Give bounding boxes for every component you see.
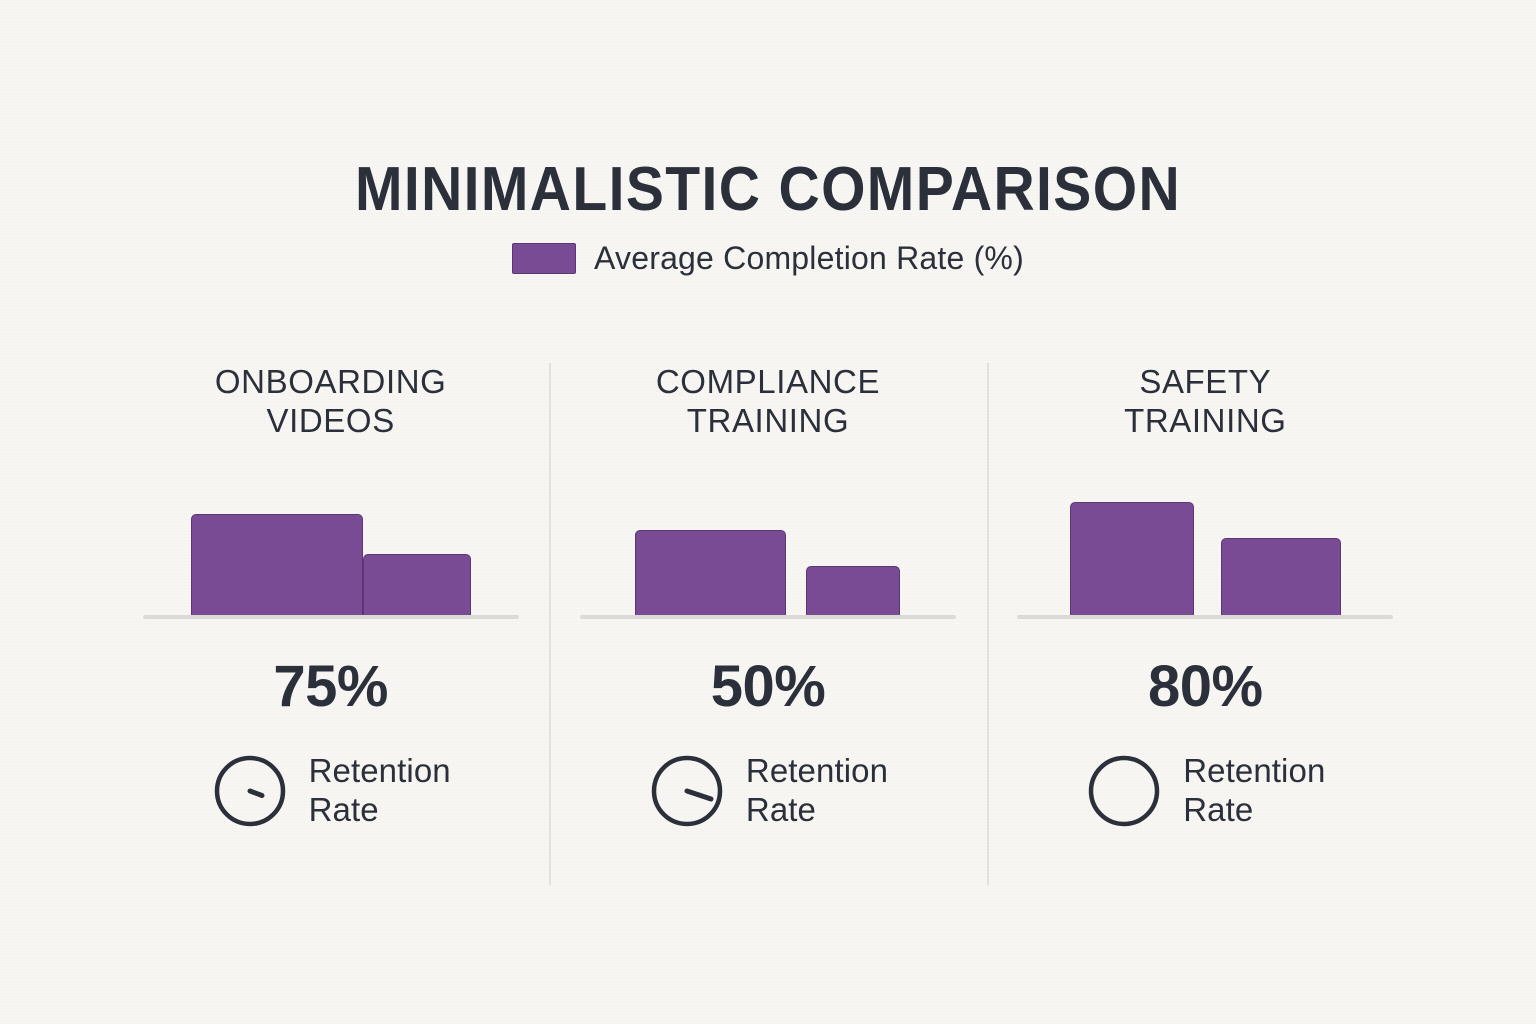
bar-retention-rate	[806, 566, 900, 616]
retention-label: Retention Rate	[1183, 752, 1325, 830]
panel-heading: SAFETY TRAINING	[1124, 363, 1286, 447]
panel-onboarding-videos: ONBOARDING VIDEOS 75% Retention Rate	[112, 355, 549, 895]
legend-swatch-completion-rate	[512, 243, 576, 274]
panel-heading: COMPLIANCE TRAINING	[656, 363, 880, 447]
bar-completion-rate	[635, 530, 786, 616]
legend-label-completion-rate: Average Completion Rate (%)	[594, 240, 1024, 277]
retention-label: Retention Rate	[746, 752, 888, 830]
gauge-empty-icon	[1085, 752, 1163, 830]
bar-group	[568, 459, 968, 619]
comparison-panels: ONBOARDING VIDEOS 75% Retention Rate	[112, 355, 1424, 895]
retention-row: Retention Rate	[1085, 752, 1325, 830]
bar-completion-rate	[1070, 502, 1194, 616]
percent-value: 50%	[711, 653, 826, 720]
bar-baseline	[1017, 615, 1393, 619]
retention-label: Retention Rate	[309, 752, 451, 830]
gauge-needle-icon	[648, 752, 726, 830]
bar-baseline	[143, 615, 519, 619]
bars-row	[1005, 459, 1405, 616]
chart-legend: Average Completion Rate (%)	[0, 240, 1536, 277]
bar-retention-rate	[363, 554, 471, 616]
bar-group	[131, 459, 531, 619]
panel-safety-training: SAFETY TRAINING 80% Retention Rate	[987, 355, 1424, 895]
bar-completion-rate	[191, 514, 363, 616]
percent-value: 80%	[1148, 653, 1263, 720]
bar-group	[1005, 459, 1405, 619]
panel-heading: ONBOARDING VIDEOS	[215, 363, 447, 447]
bar-retention-rate	[1221, 538, 1341, 616]
gauge-needle-icon	[211, 752, 289, 830]
retention-row: Retention Rate	[211, 752, 451, 830]
infographic-canvas: MINIMALISTIC COMPARISON Average Completi…	[0, 0, 1536, 1024]
page-title: MINIMALISTIC COMPARISON	[61, 154, 1474, 225]
panel-compliance-training: COMPLIANCE TRAINING 50% Retention Rate	[549, 355, 986, 895]
percent-value: 75%	[273, 653, 388, 720]
retention-row: Retention Rate	[648, 752, 888, 830]
bars-row	[568, 459, 968, 616]
bars-row	[131, 459, 531, 616]
bar-baseline	[580, 615, 956, 619]
